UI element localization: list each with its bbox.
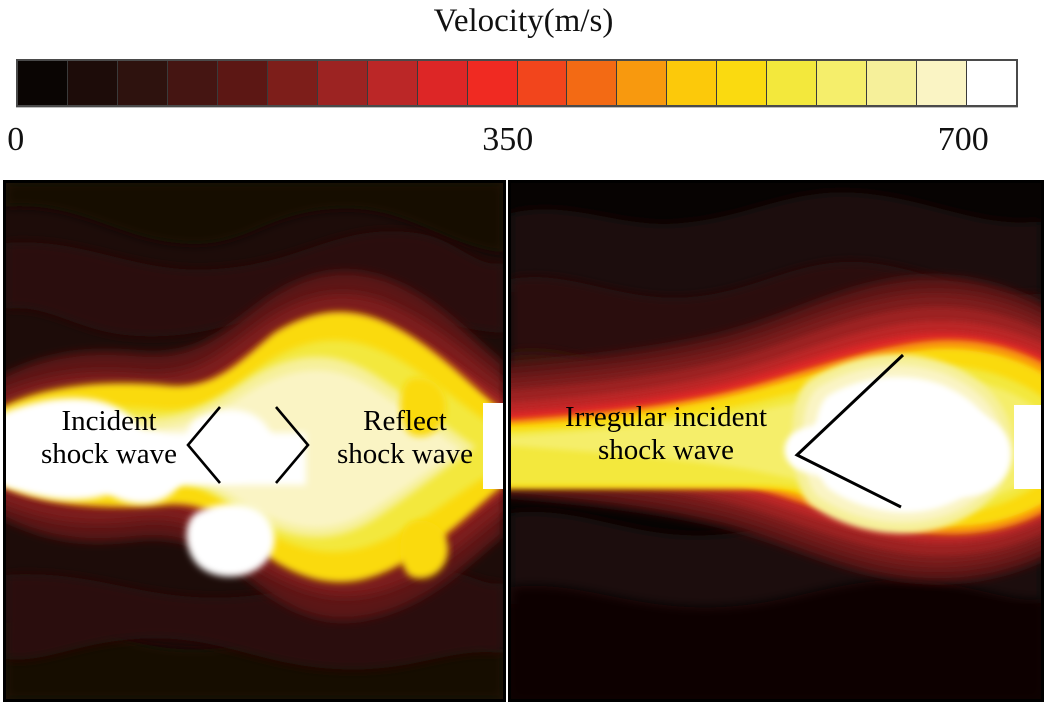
colorbar-swatch-4 bbox=[218, 61, 268, 105]
colorbar-swatch-2 bbox=[118, 61, 168, 105]
colorbar-swatch-18 bbox=[917, 61, 967, 105]
colorbar-tick-labels: 0350700 bbox=[0, 118, 1047, 168]
colorbar-tick-700: 700 bbox=[938, 118, 989, 162]
colorbar-swatch-0 bbox=[18, 61, 68, 105]
irregular-reflection-panel: Irregular incident shock wave bbox=[508, 180, 1044, 702]
reflect-shock-wave-label: Reflect shock wave bbox=[312, 405, 498, 471]
colorbar-tick-0: 0 bbox=[7, 118, 24, 162]
colorbar-swatch-12 bbox=[617, 61, 667, 105]
colorbar-swatch-17 bbox=[867, 61, 917, 105]
nozzle-exit-slit bbox=[1014, 405, 1041, 489]
velocity-colorbar bbox=[16, 59, 1018, 107]
colorbar-swatch-1 bbox=[68, 61, 118, 105]
colorbar-swatch-7 bbox=[368, 61, 418, 105]
incident-shock-angle-marker bbox=[182, 405, 226, 485]
reflect-shock-angle-marker bbox=[270, 405, 314, 485]
colorbar-swatch-6 bbox=[318, 61, 368, 105]
contour-panels: Incident shock wave Reflect shock wave bbox=[0, 180, 1047, 702]
colorbar-swatch-14 bbox=[717, 61, 767, 105]
colorbar-tick-350: 350 bbox=[482, 118, 533, 162]
colorbar-swatch-9 bbox=[468, 61, 518, 105]
colorbar-swatch-13 bbox=[667, 61, 717, 105]
colorbar-swatch-19 bbox=[967, 61, 1016, 105]
incident-shock-wave-label: Incident shock wave bbox=[14, 405, 204, 471]
irregular-incident-shock-wave-label: Irregular incident shock wave bbox=[521, 401, 811, 467]
colorbar-title: Velocity(m/s) bbox=[0, 2, 1047, 40]
colorbar-swatch-11 bbox=[567, 61, 617, 105]
colorbar-swatch-3 bbox=[168, 61, 218, 105]
regular-reflection-panel: Incident shock wave Reflect shock wave bbox=[3, 180, 506, 702]
colorbar-swatch-8 bbox=[418, 61, 468, 105]
colorbar-swatch-5 bbox=[268, 61, 318, 105]
irregular-shock-angle-marker bbox=[791, 351, 911, 511]
colorbar-swatch-10 bbox=[518, 61, 568, 105]
colorbar-swatch-15 bbox=[767, 61, 817, 105]
colorbar-swatch-16 bbox=[817, 61, 867, 105]
